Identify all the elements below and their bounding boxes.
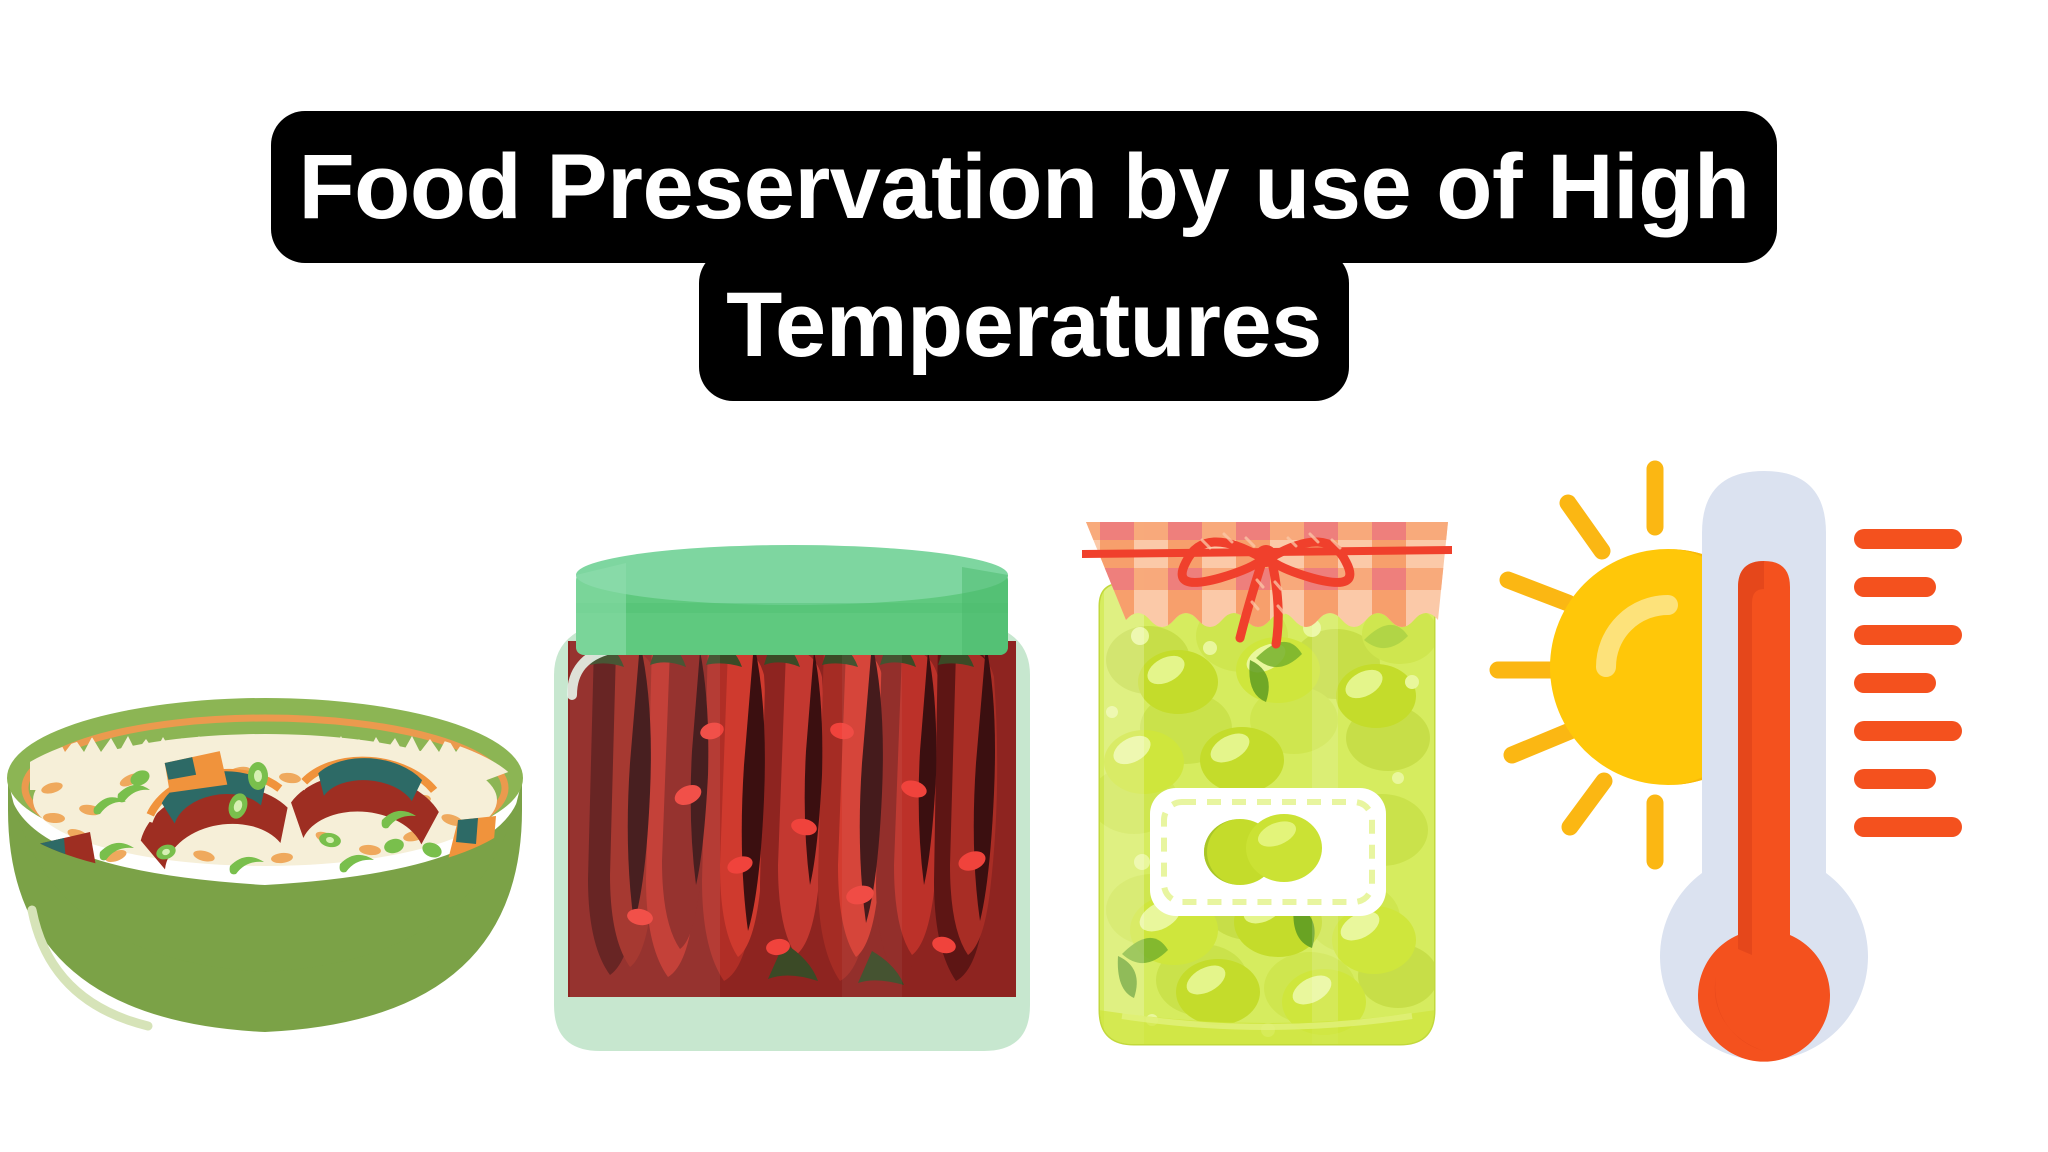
title-line-1: Food Preservation by use of High <box>271 111 1777 263</box>
pepper-contents <box>568 639 1016 997</box>
tick-5 <box>1854 721 1962 741</box>
page-title: Food Preservation by use of High Tempera… <box>0 118 2048 394</box>
title-line-2: Temperatures <box>699 249 1350 401</box>
tick-1 <box>1854 529 1962 549</box>
thermometer-ticks <box>1854 529 1962 837</box>
jar-lid <box>576 545 1008 655</box>
olive-jar-illustration <box>1082 510 1452 1110</box>
pepper-jar-illustration <box>542 545 1042 1105</box>
olive-jar-label <box>1150 788 1386 916</box>
soup-bowl-illustration <box>0 660 540 1080</box>
tick-4 <box>1854 673 1936 693</box>
label-olives-icon <box>1204 814 1322 885</box>
thermometer-sun-illustration <box>1480 455 2048 1115</box>
poster-canvas: Food Preservation by use of High Tempera… <box>0 0 2048 1152</box>
tick-2 <box>1854 577 1936 597</box>
tick-6 <box>1854 769 1936 789</box>
tick-3 <box>1854 625 1962 645</box>
tick-7 <box>1854 817 1962 837</box>
